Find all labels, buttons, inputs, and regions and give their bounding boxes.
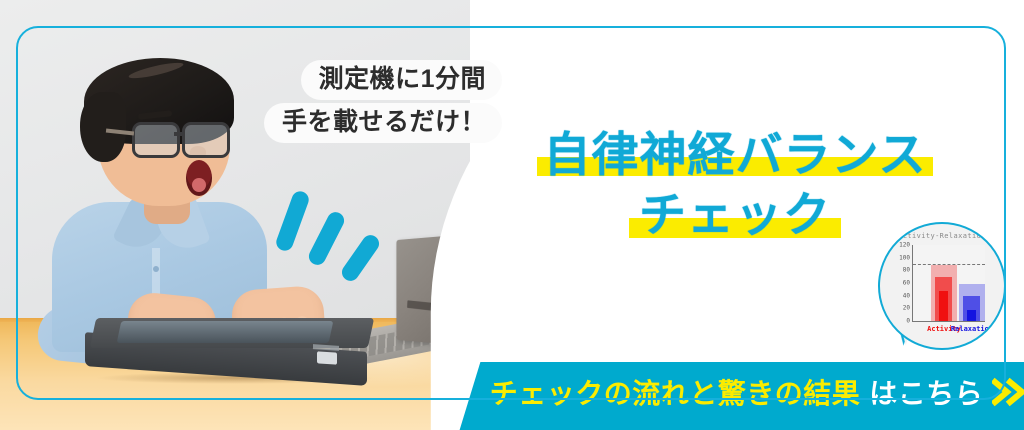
emphasis-stroke-icon (306, 209, 347, 268)
emphasis-strokes (282, 190, 397, 290)
caption-line-2: 手を載せるだけ！ (264, 103, 502, 143)
chart-bar-core (967, 310, 976, 321)
cta-plain-text: はこちら (869, 372, 983, 412)
chart-reference-line (913, 264, 985, 265)
person-hair-side (80, 92, 126, 162)
caption-line-1: 測定機に1分間 (301, 60, 502, 100)
shirt-button (153, 266, 159, 272)
chart-title: Activity-Relaxation (886, 232, 998, 240)
title-line-1: 自律神経バランス (543, 128, 926, 182)
glasses-icon (132, 122, 226, 152)
device-indicator-panel (317, 351, 337, 364)
glasses-lens-left (132, 122, 180, 158)
cta-highlight-text: チェックの流れと驚きの結果 (490, 372, 861, 412)
chart-bar-core (939, 291, 948, 321)
title-text-2: チェック (639, 188, 831, 241)
cta-banner[interactable]: チェックの流れと驚きの結果 はこちら (492, 362, 1024, 430)
title-line-2: チェック (639, 188, 831, 242)
measurement-device (85, 318, 375, 380)
chart-bar: Activity (931, 277, 957, 321)
chart-y-tick: 120 (899, 242, 910, 249)
result-chart-bubble: Activity-Relaxation 020406080100120 Acti… (878, 222, 1002, 346)
promo-banner: 測定機に1分間 手を載せるだけ！ 自律神経バランス チェック Activity-… (0, 0, 1024, 430)
emphasis-stroke-icon (339, 232, 383, 284)
glasses-bridge (174, 132, 184, 136)
chart-bar: Relaxation (959, 296, 985, 321)
bubble-body: Activity-Relaxation 020406080100120 Acti… (878, 222, 1006, 350)
chart-plot-area: ActivityRelaxation (912, 245, 985, 322)
chart-x-label: Relaxation (949, 325, 995, 333)
caption-block: 測定機に1分間 手を載せるだけ！ (232, 60, 502, 143)
glasses-lens-right (182, 122, 230, 158)
thinkpad-logo-icon (407, 300, 432, 310)
chart-y-tick: 0 (906, 318, 910, 325)
chart-y-tick: 20 (903, 305, 910, 312)
chart-y-tick: 80 (903, 267, 910, 274)
double-chevron-right-icon[interactable] (992, 377, 1024, 407)
chart-y-tick: 100 (899, 254, 910, 261)
title-text-1: 自律神経バランス (543, 128, 926, 181)
chart-y-axis-ticks: 020406080100120 (888, 240, 912, 322)
chart-y-tick: 60 (903, 280, 910, 287)
person-tongue (192, 178, 206, 192)
chart-y-tick: 40 (903, 292, 910, 299)
device-sensor-plate (117, 321, 334, 343)
activity-relaxation-chart: Activity-Relaxation 020406080100120 Acti… (886, 230, 998, 342)
